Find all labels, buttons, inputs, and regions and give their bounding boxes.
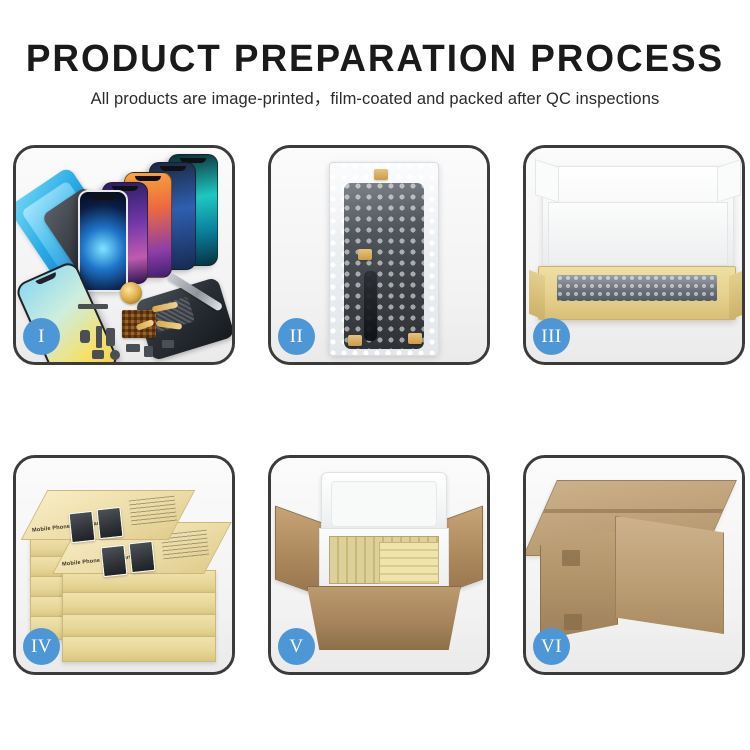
part-connector-6 <box>110 350 120 360</box>
carton-tape-patch-2 <box>564 614 582 630</box>
part-connector-2 <box>80 330 90 343</box>
step-badge-1-label: I <box>38 327 45 346</box>
tape-piece-4 <box>408 333 422 344</box>
phone-device-1-icon <box>78 190 128 292</box>
part-connector-9 <box>162 340 174 348</box>
step-badge-6-label: VI <box>541 637 562 656</box>
part-connector-5 <box>92 350 104 359</box>
box-artwork-screen-2b <box>128 541 155 573</box>
packed-units-row-2 <box>379 542 439 584</box>
process-step-grid: I II <box>13 145 737 675</box>
process-step-panel-1[interactable]: I <box>13 145 235 365</box>
step-badge-1: I <box>23 318 60 355</box>
tape-piece-3 <box>348 335 362 346</box>
wrapped-screen-assembly <box>344 183 424 349</box>
white-foam-insert-icon <box>548 202 728 266</box>
part-connector-4 <box>106 328 115 346</box>
tray-flap-left <box>529 270 545 320</box>
step-badge-3-label: III <box>541 327 561 346</box>
part-connector-1 <box>78 304 108 309</box>
bubble-wrap-layer-icon <box>557 275 717 301</box>
page-title: PRODUCT PREPARATION PROCESS <box>11 38 739 80</box>
carton-tape-patch-1 <box>562 550 580 566</box>
step-badge-5-label: V <box>289 637 303 656</box>
step-badge-6: VI <box>533 628 570 665</box>
step-badge-4-label: IV <box>31 637 52 656</box>
page-header: PRODUCT PREPARATION PROCESS All products… <box>0 0 750 111</box>
tape-piece-1 <box>374 169 388 180</box>
kraft-tray-icon <box>538 266 736 320</box>
step-badge-2: II <box>278 318 315 355</box>
process-step-panel-3[interactable]: III <box>523 145 745 365</box>
spare-parts-cluster <box>78 288 208 362</box>
step-badge-3: III <box>533 318 570 355</box>
flex-cable-2-icon <box>156 320 183 330</box>
process-step-panel-4[interactable]: Mobile Phone Spare Parts Mobile Phone Sp… <box>13 455 235 675</box>
step-badge-4: IV <box>23 628 60 665</box>
tape-piece-2 <box>358 249 372 260</box>
tray-flap-right <box>729 270 742 320</box>
box-artwork-screen-1b <box>96 507 123 539</box>
stacked-box-r3 <box>62 614 216 638</box>
box-artwork-screen-1a <box>68 511 95 543</box>
flex-cable-1-icon <box>152 301 179 312</box>
process-step-panel-5[interactable]: V <box>268 455 490 675</box>
part-connector-8 <box>144 346 153 357</box>
bubble-wrap-bag-icon <box>329 162 439 356</box>
process-step-panel-6[interactable]: VI <box>523 455 745 675</box>
process-step-panel-2[interactable]: II <box>268 145 490 365</box>
carton-front-panel <box>307 586 461 650</box>
camera-module-icon <box>120 282 142 304</box>
step-badge-5: V <box>278 628 315 665</box>
stacked-box-r2 <box>62 592 216 616</box>
part-connector-3 <box>96 326 102 348</box>
wrapped-flex-cable <box>364 271 377 341</box>
page-subtitle: All products are image-printed，film-coat… <box>0 87 750 111</box>
box-artwork-text-1 <box>129 496 177 527</box>
stacked-box-r4 <box>62 636 216 662</box>
step-badge-2-label: II <box>290 327 304 346</box>
box-artwork-screen-2a <box>100 545 127 577</box>
part-connector-7 <box>126 344 140 352</box>
carton-right-face <box>615 516 724 634</box>
